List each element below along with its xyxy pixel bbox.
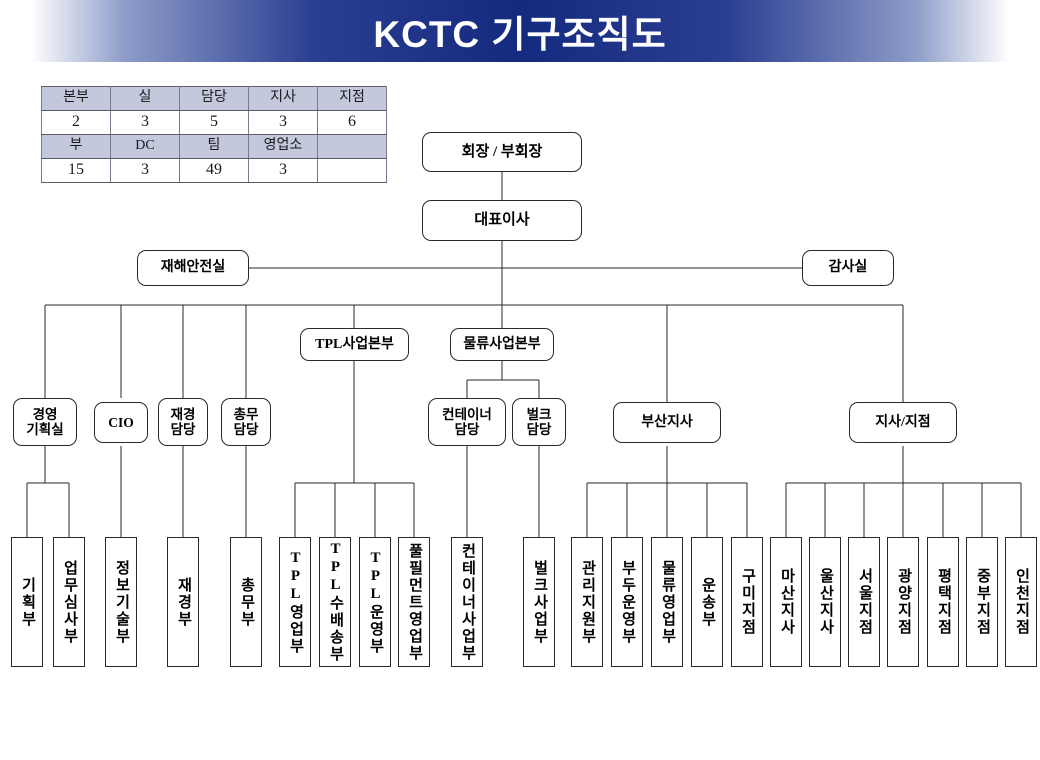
node-cio[interactable]: CIO xyxy=(94,402,148,443)
leaf-label: 부두운영부 xyxy=(620,560,635,645)
leaf-node[interactable]: 재경부 xyxy=(167,537,199,667)
leaf-label: 운송부 xyxy=(700,577,715,628)
leaf-node[interactable]: 마산지사 xyxy=(770,537,802,667)
node-chairman[interactable]: 회장 / 부회장 xyxy=(422,132,582,172)
leaf-node[interactable]: 관리지원부 xyxy=(571,537,603,667)
leaf-node[interactable]: 중부지점 xyxy=(966,537,998,667)
leaf-node[interactable]: TPL영업부 xyxy=(279,537,311,667)
node-logistics-division[interactable]: 물류사업본부 xyxy=(450,328,554,361)
leaf-label: TPL영업부 xyxy=(288,550,303,655)
leaf-node[interactable]: 총무부 xyxy=(230,537,262,667)
node-finance-dept[interactable]: 재경 담당 xyxy=(158,398,208,446)
node-bulk-dept[interactable]: 벌크 담당 xyxy=(512,398,566,446)
node-container-dept[interactable]: 컨테이너 담당 xyxy=(428,398,506,446)
leaf-node[interactable]: 업무심사부 xyxy=(53,537,85,667)
node-audit-office[interactable]: 감사실 xyxy=(802,250,894,286)
node-tpl-division[interactable]: TPL사업본부 xyxy=(300,328,409,361)
leaf-label: 관리지원부 xyxy=(580,560,595,645)
leaf-label: 광양지점 xyxy=(896,568,911,636)
leaf-node[interactable]: 광양지점 xyxy=(887,537,919,667)
leaf-node[interactable]: 평택지점 xyxy=(927,537,959,667)
leaf-label: 물류영업부 xyxy=(660,560,675,645)
leaf-node[interactable]: 구미지점 xyxy=(731,537,763,667)
leaf-label: 울산지사 xyxy=(818,568,833,636)
leaf-label: 컨테이너사업부 xyxy=(460,543,475,662)
leaf-label: 평택지점 xyxy=(936,568,951,636)
leaf-label: 인천지점 xyxy=(1014,568,1029,636)
leaf-node[interactable]: 기획부 xyxy=(11,537,43,667)
leaf-label: 구미지점 xyxy=(740,568,755,636)
node-busan-branch[interactable]: 부산지사 xyxy=(613,402,721,443)
node-ceo[interactable]: 대표이사 xyxy=(422,200,582,241)
node-branches-group[interactable]: 지사/지점 xyxy=(849,402,957,443)
leaf-node[interactable]: 인천지점 xyxy=(1005,537,1037,667)
leaf-node[interactable]: TPL운영부 xyxy=(359,537,391,667)
leaf-node[interactable]: TPL수배송부 xyxy=(319,537,351,667)
leaf-label: TPL운영부 xyxy=(368,550,383,655)
leaf-label: 벌크사업부 xyxy=(532,560,547,645)
leaf-node[interactable]: 서울지점 xyxy=(848,537,880,667)
leaf-node[interactable]: 풀필먼트영업부 xyxy=(398,537,430,667)
leaf-node[interactable]: 컨테이너사업부 xyxy=(451,537,483,667)
leaf-node[interactable]: 울산지사 xyxy=(809,537,841,667)
leaf-label: 총무부 xyxy=(239,577,254,628)
leaf-label: TPL수배송부 xyxy=(328,541,343,663)
leaf-label: 풀필먼트영업부 xyxy=(407,543,422,662)
connector-lines xyxy=(0,0,1040,760)
leaf-label: 기획부 xyxy=(20,577,35,628)
node-safety-office[interactable]: 재해안전실 xyxy=(137,250,249,286)
leaf-label: 마산지사 xyxy=(779,568,794,636)
leaf-label: 정보기술부 xyxy=(114,560,129,645)
leaf-node[interactable]: 부두운영부 xyxy=(611,537,643,667)
leaf-label: 서울지점 xyxy=(857,568,872,636)
leaf-label: 재경부 xyxy=(176,577,191,628)
leaf-label: 중부지점 xyxy=(975,568,990,636)
leaf-node[interactable]: 정보기술부 xyxy=(105,537,137,667)
node-general-affairs-dept[interactable]: 총무 담당 xyxy=(221,398,271,446)
node-planning-office[interactable]: 경영 기획실 xyxy=(13,398,77,446)
leaf-node[interactable]: 운송부 xyxy=(691,537,723,667)
leaf-label: 업무심사부 xyxy=(62,560,77,645)
leaf-node[interactable]: 벌크사업부 xyxy=(523,537,555,667)
leaf-node[interactable]: 물류영업부 xyxy=(651,537,683,667)
org-chart-canvas: KCTC 기구조직도 본부 실 담당 지사 지점 2 3 5 3 6 부 DC … xyxy=(0,0,1040,760)
